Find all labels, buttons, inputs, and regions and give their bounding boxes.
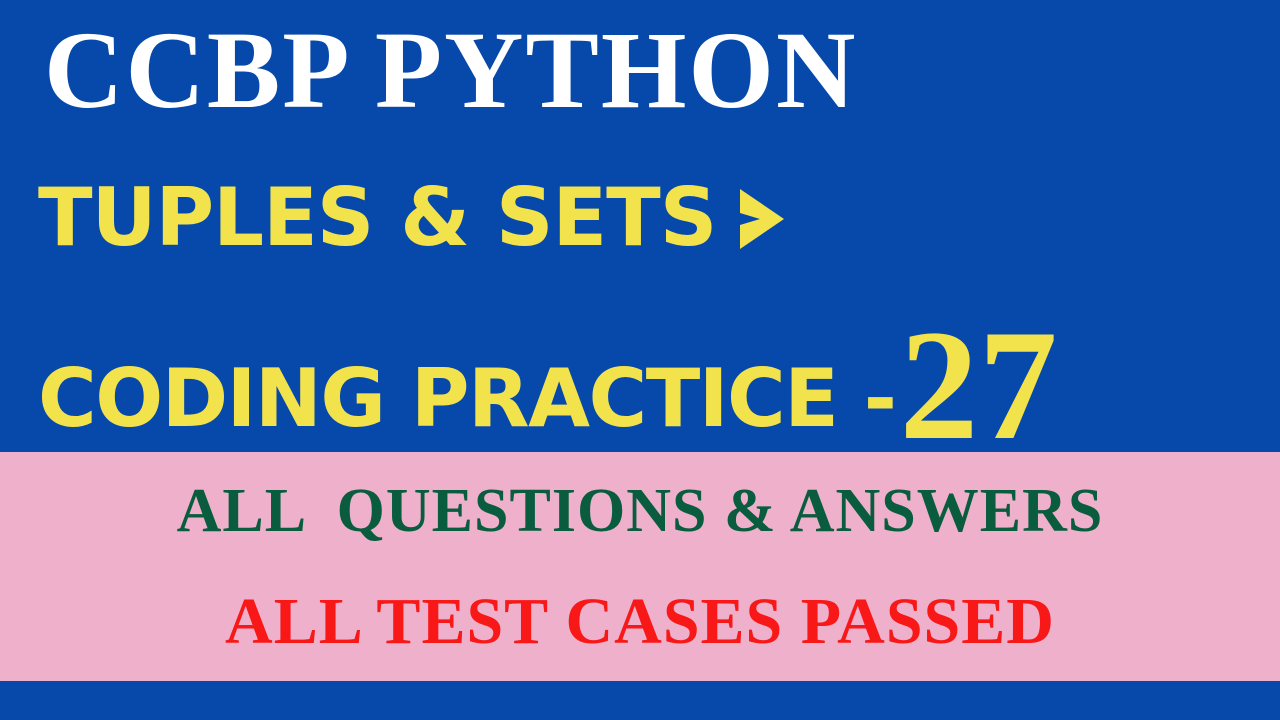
video-thumbnail: CCBP PYTHON TUPLES & SETS CODING PRACTIC… [0,0,1280,720]
chevron-right-icon [734,183,790,255]
topic-label: TUPLES & SETS [38,178,716,258]
practice-label: CODING PRACTICE - [38,359,895,439]
questions-answers-label: ALL QUESTIONS & ANSWERS [0,480,1280,542]
episode-number: 27 [899,324,1057,447]
bottom-blue-strip [0,681,1280,720]
bottom-pink-panel: ALL QUESTIONS & ANSWERS ALL TEST CASES P… [0,452,1280,681]
test-cases-status: ALL TEST CASES PASSED [0,589,1280,655]
topic-row: TUPLES & SETS [38,178,1238,258]
course-title: CCBP PYTHON [44,8,1234,133]
top-blue-panel: CCBP PYTHON TUPLES & SETS CODING PRACTIC… [0,0,1280,452]
practice-row: CODING PRACTICE - 27 [38,312,1278,439]
